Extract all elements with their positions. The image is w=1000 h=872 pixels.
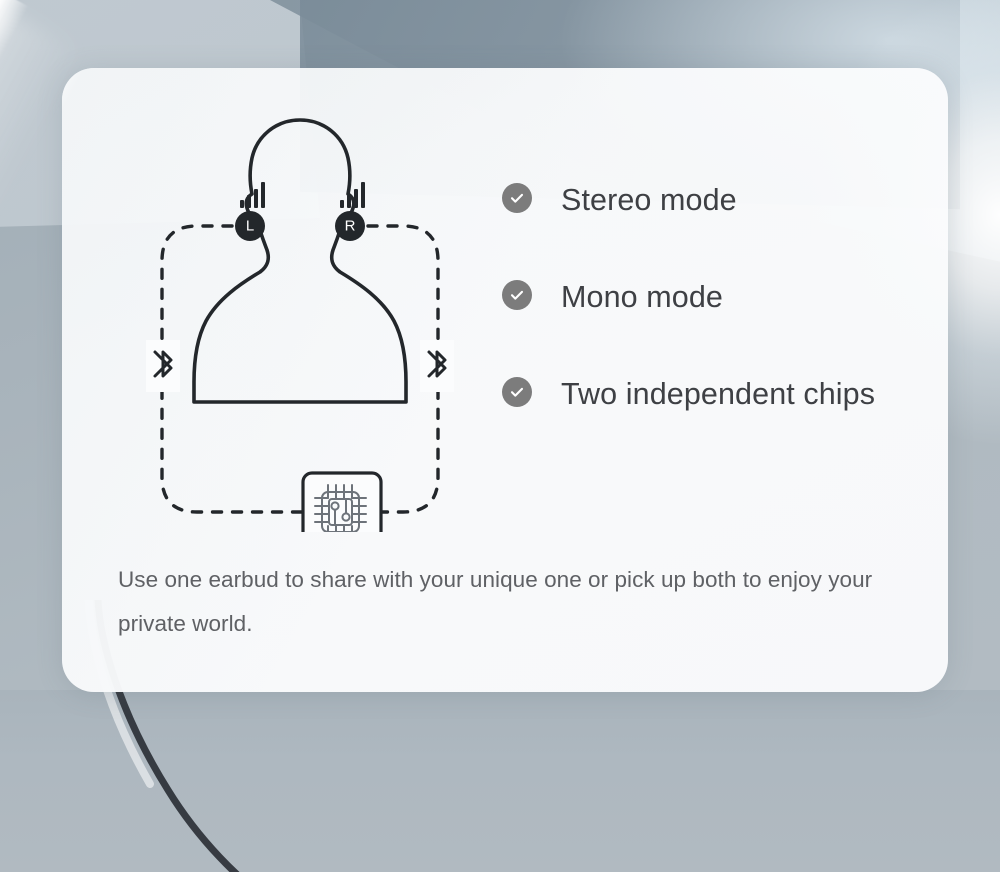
feature-item-mono-mode[interactable]: Mono mode [502,275,922,320]
feature-item-stereo-mode[interactable]: Stereo mode [502,178,922,223]
dashed-connection-path [162,226,438,512]
left-earbud-label: L [246,218,254,235]
check-circle-icon [502,183,532,213]
feature-label: Stereo mode [561,178,737,223]
feature-label: Mono mode [561,275,723,320]
check-circle-icon [502,280,532,310]
feature-item-two-independent-chips[interactable]: Two independent chips [502,372,922,417]
bluetooth-icon-right [420,340,454,392]
right-earbud-badge: R [335,211,365,241]
product-feature-graphic: L R [0,0,1000,872]
check-circle-icon [502,377,532,407]
earbud-pairing-diagram: L R [100,102,500,532]
person-silhouette [194,120,406,402]
microchip-icon [303,473,381,532]
feature-list: Stereo mode Mono mode Two independent ch… [502,178,922,417]
left-earbud-badge: L [235,211,265,241]
feature-card: L R [62,68,948,692]
feature-label: Two independent chips [561,372,875,417]
bluetooth-icon-left [146,340,180,392]
caption-text: Use one earbud to share with your unique… [118,558,898,646]
right-earbud-label: R [345,218,356,235]
